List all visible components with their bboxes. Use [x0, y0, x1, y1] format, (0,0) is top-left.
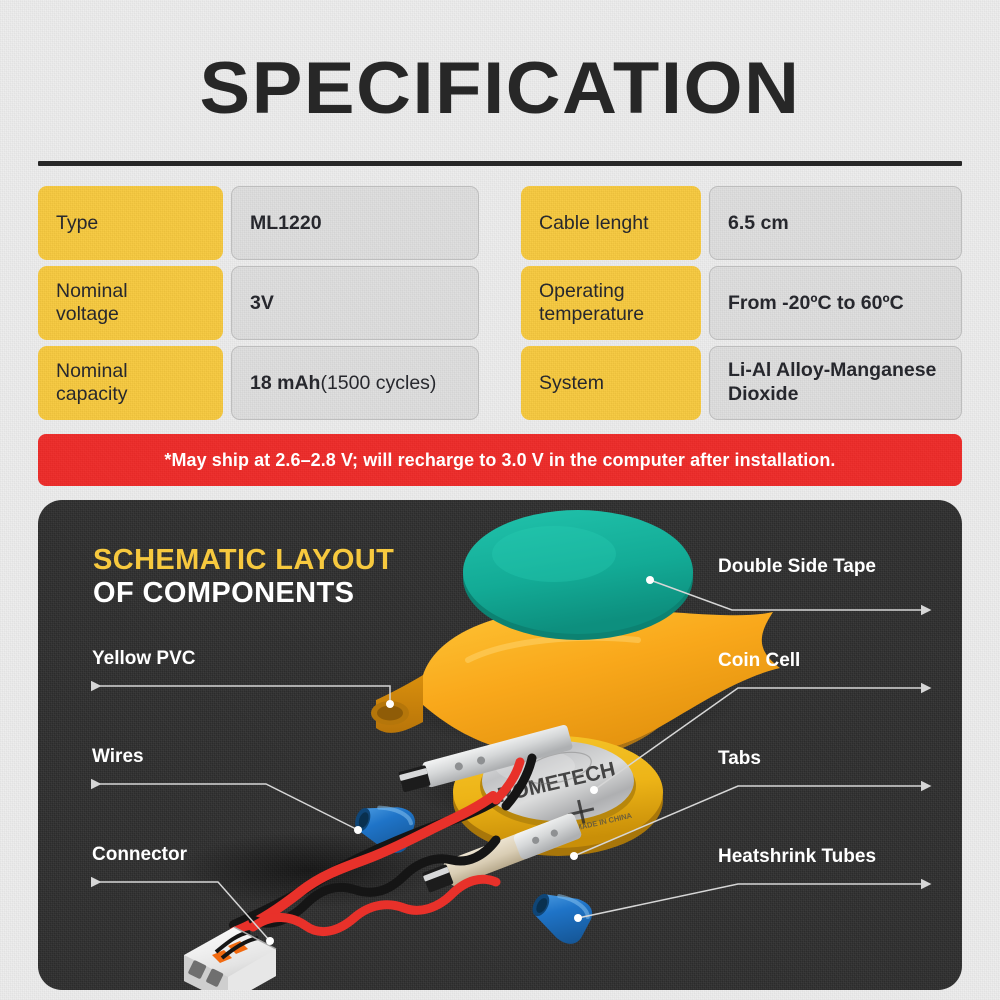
- callout-label-wires: Wires: [92, 746, 144, 768]
- title-divider: [38, 161, 962, 166]
- spec-key-operating-temperature-text: Operating temperature: [539, 280, 644, 326]
- spec-key-cable-length: Cable lenght: [521, 186, 701, 260]
- spec-value-type: ML1220: [231, 186, 479, 260]
- schematic-panel: ROMETECH 3V LITHIUM MADE IN CHINA: [38, 500, 962, 990]
- callout-label-heatshrink-tubes: Heatshrink Tubes: [718, 846, 876, 868]
- spec-key-nominal-capacity-text: Nominal capacity: [56, 360, 128, 406]
- callout-label-coin-cell: Coin Cell: [718, 650, 800, 672]
- spec-row-cable-length: Cable lenght 6.5 cm: [521, 186, 962, 260]
- spec-value-capacity-main: 18 mAh: [250, 372, 320, 395]
- warning-banner-text: *May ship at 2.6–2.8 V; will recharge to…: [164, 449, 835, 471]
- spec-key-type: Type: [38, 186, 223, 260]
- callout-label-double-side-tape: Double Side Tape: [718, 556, 876, 578]
- callout-label-tabs: Tabs: [718, 748, 761, 770]
- spec-key-nominal-voltage-text: Nominal voltage: [56, 280, 128, 326]
- page-root: SPECIFICATION Type ML1220 Nominal voltag…: [0, 0, 1000, 1000]
- spec-row-operating-temperature: Operating temperature From -20ºC to 60ºC: [521, 266, 962, 340]
- spec-value-capacity-cycles: (1500 cycles): [320, 372, 436, 395]
- spec-row-type: Type ML1220: [38, 186, 479, 260]
- schematic-heading-line1: SCHEMATIC LAYOUT: [93, 544, 394, 577]
- spec-value-operating-temperature: From -20ºC to 60ºC: [709, 266, 962, 340]
- spec-key-nominal-capacity: Nominal capacity: [38, 346, 223, 420]
- spec-value-nominal-voltage: 3V: [231, 266, 479, 340]
- callout-label-connector: Connector: [92, 844, 187, 866]
- spec-row-nominal-voltage: Nominal voltage 3V: [38, 266, 479, 340]
- spec-row-nominal-capacity: Nominal capacity 18 mAh (1500 cycles): [38, 346, 479, 420]
- callout-label-yellow-pvc: Yellow PVC: [92, 648, 195, 670]
- schematic-heading-line2: OF COMPONENTS: [93, 577, 394, 610]
- spec-row-system: System Li-Al Alloy-Manganese Dioxide: [521, 346, 962, 420]
- schematic-heading: SCHEMATIC LAYOUT OF COMPONENTS: [93, 544, 394, 610]
- spec-table: Type ML1220 Nominal voltage 3V Nominal c…: [38, 186, 962, 420]
- spec-key-system: System: [521, 346, 701, 420]
- spec-key-operating-temperature: Operating temperature: [521, 266, 701, 340]
- page-title: SPECIFICATION: [20, 0, 981, 125]
- spec-key-nominal-voltage: Nominal voltage: [38, 266, 223, 340]
- spec-column-right: Cable lenght 6.5 cm Operating temperatur…: [521, 186, 962, 420]
- spec-value-nominal-capacity: 18 mAh (1500 cycles): [231, 346, 479, 420]
- spec-value-system: Li-Al Alloy-Manganese Dioxide: [709, 346, 962, 420]
- warning-banner: *May ship at 2.6–2.8 V; will recharge to…: [38, 434, 962, 486]
- spec-column-left: Type ML1220 Nominal voltage 3V Nominal c…: [38, 186, 479, 420]
- spec-value-cable-length: 6.5 cm: [709, 186, 962, 260]
